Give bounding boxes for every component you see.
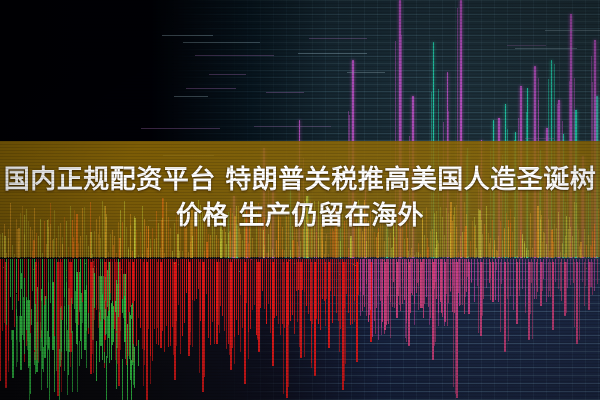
headline: 国内正规配资平台 特朗普关税推高美国人造圣诞树 价格 生产仍留在海外 — [0, 141, 600, 257]
news-banner: 国内正规配资平台 特朗普关税推高美国人造圣诞树 价格 生产仍留在海外 — [0, 0, 600, 400]
headline-line-1: 国内正规配资平台 特朗普关税推高美国人造圣诞树 — [4, 166, 597, 196]
headline-line-2: 价格 生产仍留在海外 — [176, 202, 424, 232]
